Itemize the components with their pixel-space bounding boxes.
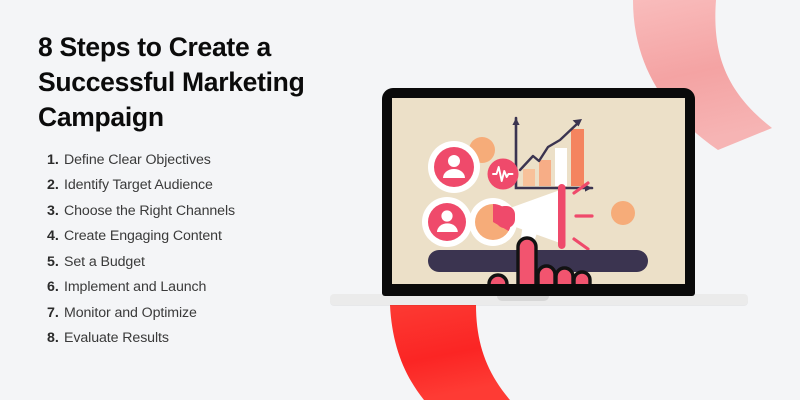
step-number: 4.	[47, 228, 64, 244]
list-item: 1. Define Clear Objectives	[38, 152, 368, 168]
progress-bar	[428, 250, 648, 272]
list-item: 5. Set a Budget	[38, 254, 368, 270]
laptop-illustration	[382, 88, 712, 308]
step-label: Create Engaging Content	[64, 228, 222, 244]
step-label: Monitor and Optimize	[64, 305, 197, 321]
screen-graphics	[392, 98, 685, 284]
user-avatar-icon	[428, 141, 480, 193]
list-item: 6. Implement and Launch	[38, 279, 368, 295]
laptop-lid	[382, 88, 695, 296]
bar-3	[555, 148, 567, 186]
dot-decoration	[611, 201, 635, 225]
steps-list: 1. Define Clear Objectives 2. Identify T…	[38, 152, 368, 347]
step-number: 6.	[47, 279, 64, 295]
step-label: Evaluate Results	[64, 330, 169, 346]
user-avatar-icon	[422, 197, 472, 247]
title-line-1: 8 Steps to Create a	[38, 32, 271, 62]
bar-chart-icon	[512, 118, 592, 192]
laptop-screen	[392, 98, 685, 284]
step-number: 3.	[47, 203, 64, 219]
step-label: Set a Budget	[64, 254, 145, 270]
step-number: 2.	[47, 177, 64, 193]
bar-4	[571, 129, 584, 186]
list-item: 2. Identify Target Audience	[38, 177, 368, 193]
page-title: 8 Steps to Create a Successful Marketing…	[38, 30, 368, 135]
red-ribbon-bottom	[390, 305, 510, 400]
list-item: 8. Evaluate Results	[38, 330, 368, 346]
pulse-icon	[488, 159, 519, 190]
title-line-2: Successful Marketing	[38, 67, 304, 97]
step-label: Implement and Launch	[64, 279, 206, 295]
step-label: Choose the Right Channels	[64, 203, 235, 219]
list-item: 7. Monitor and Optimize	[38, 305, 368, 321]
bar-1	[523, 169, 535, 186]
step-number: 5.	[47, 254, 64, 270]
list-item: 3. Choose the Right Channels	[38, 203, 368, 219]
title-line-3: Campaign	[38, 102, 164, 132]
bar-2	[539, 160, 551, 186]
list-item: 4. Create Engaging Content	[38, 228, 368, 244]
step-label: Define Clear Objectives	[64, 152, 211, 168]
step-label: Identify Target Audience	[64, 177, 213, 193]
step-number: 8.	[47, 330, 64, 346]
megaphone-icon	[496, 183, 592, 249]
step-number: 7.	[47, 305, 64, 321]
text-column: 8 Steps to Create a Successful Marketing…	[38, 30, 368, 356]
poster-canvas: 8 Steps to Create a Successful Marketing…	[0, 0, 800, 400]
step-number: 1.	[47, 152, 64, 168]
